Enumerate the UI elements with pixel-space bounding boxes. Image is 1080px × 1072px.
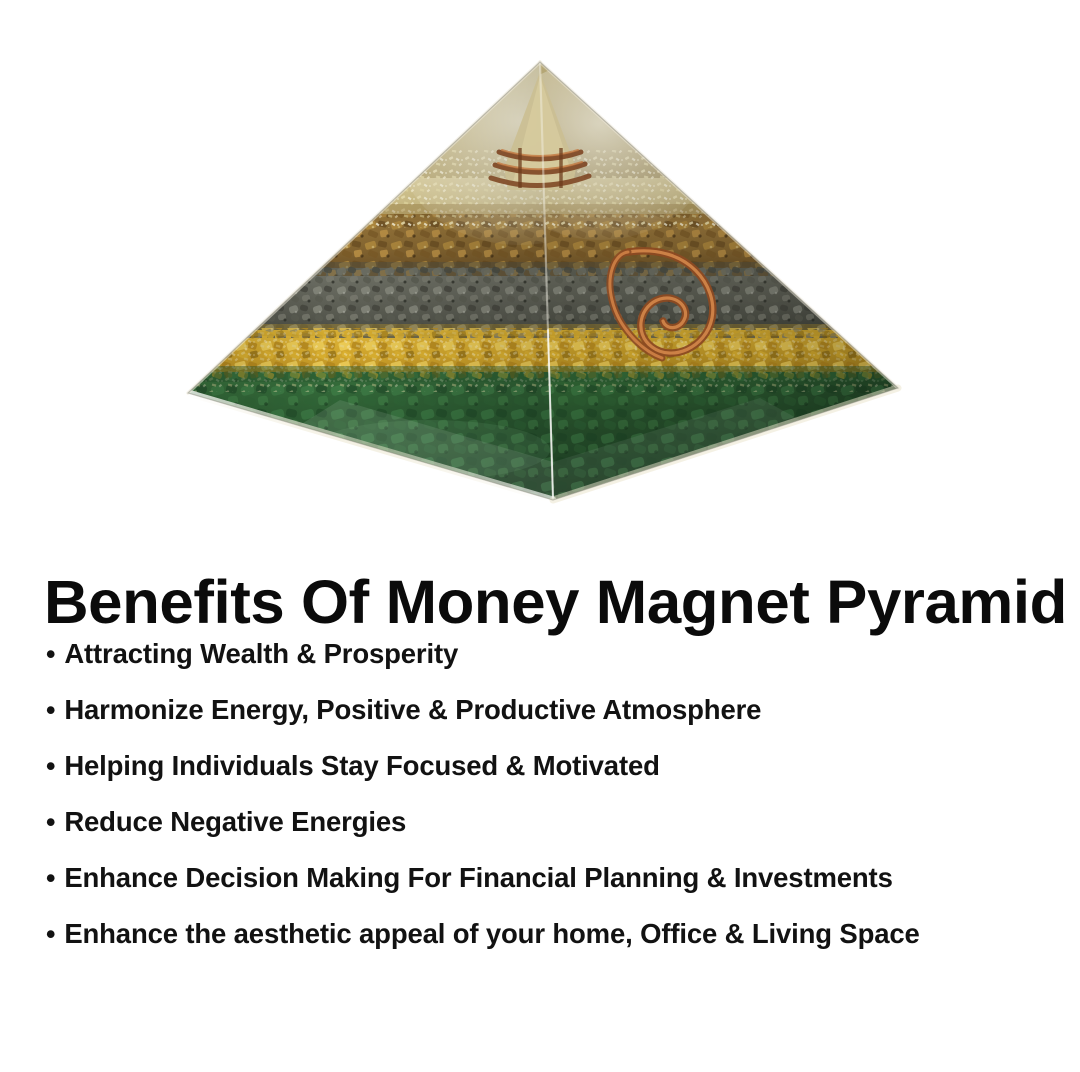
page-title: Benefits Of Money Magnet Pyramid bbox=[44, 566, 1070, 638]
benefit-text: Harmonize Energy, Positive & Productive … bbox=[64, 693, 761, 727]
benefit-item-5: • Enhance Decision Making For Financial … bbox=[46, 861, 1056, 917]
orgone-pyramid-illustration bbox=[0, 0, 1080, 520]
bullet-icon: • bbox=[46, 805, 55, 839]
benefit-text: Enhance the aesthetic appeal of your hom… bbox=[64, 917, 919, 951]
benefit-item-3: • Helping Individuals Stay Focused & Mot… bbox=[46, 749, 1056, 805]
product-image bbox=[0, 0, 1080, 520]
bullet-icon: • bbox=[46, 917, 55, 951]
bullet-icon: • bbox=[46, 693, 55, 727]
benefit-text: Reduce Negative Energies bbox=[64, 805, 406, 839]
bullet-icon: • bbox=[46, 749, 55, 783]
benefit-text: Helping Individuals Stay Focused & Motiv… bbox=[64, 749, 659, 783]
benefit-item-4: • Reduce Negative Energies bbox=[46, 805, 1056, 861]
bullet-icon: • bbox=[46, 637, 55, 671]
benefit-item-6: • Enhance the aesthetic appeal of your h… bbox=[46, 917, 1056, 973]
benefits-list: • Attracting Wealth & Prosperity • Harmo… bbox=[46, 637, 1056, 973]
benefit-text: Attracting Wealth & Prosperity bbox=[64, 637, 458, 671]
benefit-item-2: • Harmonize Energy, Positive & Productiv… bbox=[46, 693, 1056, 749]
benefit-item-1: • Attracting Wealth & Prosperity bbox=[46, 637, 1056, 693]
bullet-icon: • bbox=[46, 861, 55, 895]
benefit-text: Enhance Decision Making For Financial Pl… bbox=[64, 861, 892, 895]
